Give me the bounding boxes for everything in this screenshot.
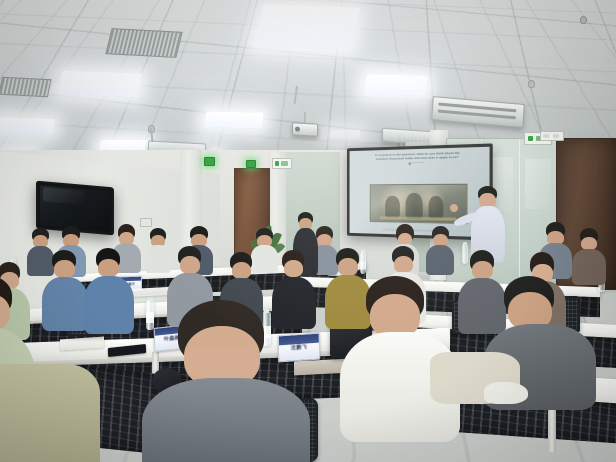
slide-content: In response to the question, what do you…: [350, 147, 490, 238]
slide-photo-caption: [380, 216, 456, 220]
ceiling-light-panel: [58, 71, 142, 98]
brand-mark-icon: [408, 162, 411, 165]
slide-photo-figure: [385, 196, 400, 218]
slide-brand-text: presentation: [412, 162, 424, 164]
conference-room-photo: In response to the question, what do you…: [0, 0, 616, 462]
torso: [325, 275, 371, 329]
emergency-light: [540, 131, 564, 141]
emergency-light-lamp: [553, 134, 559, 138]
head: [98, 259, 119, 277]
torso: [84, 276, 134, 334]
slide-photo-figure: [406, 193, 423, 219]
torso: [426, 245, 454, 275]
name-card-text: 沈鹏飞: [291, 343, 307, 351]
torso: [27, 246, 54, 276]
torso: [458, 278, 506, 334]
head: [394, 256, 413, 273]
shoe: [484, 382, 528, 404]
head: [472, 261, 493, 279]
sprinkler-head: [580, 16, 587, 24]
slide-footer: Source information and additional refere…: [360, 229, 477, 234]
head: [54, 260, 75, 278]
head: [232, 262, 251, 279]
bottle-label: [146, 312, 154, 323]
exit-glyph: [275, 161, 279, 166]
torso: [0, 364, 100, 462]
torso: [251, 245, 278, 273]
bottle-cap: [361, 250, 365, 253]
sign-glyph: [528, 136, 533, 141]
exit-sign-plate: [272, 158, 292, 169]
projector: [292, 122, 318, 136]
bottle-cap: [463, 242, 467, 245]
bottle-cap: [11, 256, 15, 259]
head: [180, 256, 200, 274]
exit-sign-left: [204, 157, 215, 166]
torso: [272, 277, 316, 329]
torso: [42, 277, 88, 331]
ceiling-light-panel: [0, 117, 55, 134]
glass-seam: [519, 139, 520, 284]
ceiling-air-vent: [0, 77, 52, 98]
slide-photo-figure: [428, 196, 443, 218]
water-bottle[interactable]: [462, 244, 468, 264]
bottle-cap: [148, 297, 153, 301]
presenter-hand: [450, 204, 458, 212]
sprinkler-head: [528, 80, 535, 88]
wall-outlet-plate[interactable]: [140, 218, 152, 227]
glass-reflection: [525, 159, 551, 209]
torso: [142, 378, 310, 462]
head: [284, 260, 303, 277]
projection-screen[interactable]: In response to the question, what do you…: [350, 147, 490, 238]
tv-screen: [40, 185, 110, 231]
name-card-front-center[interactable]: 沈鹏飞: [278, 333, 320, 363]
emergency-light-lamp: [543, 134, 549, 138]
ceiling-air-vent: [105, 28, 183, 58]
water-bottle[interactable]: [360, 252, 366, 274]
projector-lens: [295, 126, 300, 131]
ceiling-light-panel: [204, 111, 264, 128]
exit-sign-right: [246, 160, 256, 168]
ceiling-light-panel: [364, 74, 429, 95]
ceiling-light-panel: [330, 130, 360, 138]
exit-glyph: [281, 161, 288, 166]
ceiling-light-panel: [254, 4, 361, 49]
head: [338, 258, 358, 276]
tv-glare: [43, 187, 85, 205]
torso: [572, 249, 606, 285]
torso: [145, 245, 171, 273]
bottle-cap: [264, 309, 269, 313]
water-bottle[interactable]: [146, 300, 154, 330]
